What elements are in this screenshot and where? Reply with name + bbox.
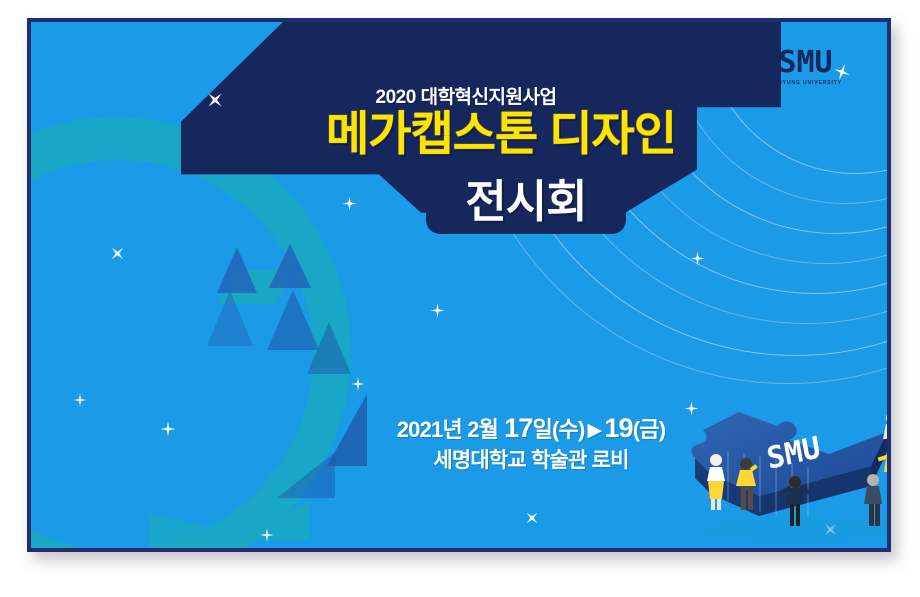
person-figure <box>877 438 887 500</box>
page-backdrop: SMU SEMYUNG UNIVERSITY 2020 대학혁신지원사업 메가캡… <box>0 0 920 597</box>
poster-title-line2: 전시회 <box>426 174 626 230</box>
date-day-end: 19 <box>604 413 632 443</box>
poster-title-line1: 메가캡스톤 디자인 <box>281 110 721 157</box>
smu-logo-subtitle: SEMYUNG UNIVERSITY <box>758 81 853 86</box>
person-figure <box>703 452 729 512</box>
date-range-arrow-icon: ▶ <box>588 420 602 441</box>
date-day-start: 17 <box>504 413 532 443</box>
sparkle-icon <box>689 250 706 267</box>
poster-frame: SMU SEMYUNG UNIVERSITY 2020 대학혁신지원사업 메가캡… <box>27 18 891 552</box>
date-day-start-suffix: 일(수) <box>533 417 585 442</box>
person-figure <box>733 456 761 514</box>
sparkle-icon <box>523 509 541 527</box>
date-year-month: 2021년 2월 <box>397 417 498 442</box>
poster-kicker: 2020 대학혁신지원사업 <box>321 82 611 109</box>
sparkle-icon <box>341 195 358 212</box>
date-day-end-suffix: (금) <box>633 417 666 442</box>
smu-logo-wordmark: SMU <box>758 48 853 78</box>
poster-venue: 세명대학교 학술관 로비 <box>371 444 691 474</box>
sparkle-icon <box>429 302 446 319</box>
poster-canvas: SMU SEMYUNG UNIVERSITY 2020 대학혁신지원사업 메가캡… <box>31 22 887 548</box>
sparkle-icon <box>350 376 366 392</box>
puzzle-illustration: SMU <box>681 390 887 548</box>
poster-date: 2021년 2월17일(수)▶19(금) <box>371 412 691 444</box>
person-figure <box>779 474 811 528</box>
smu-logo: SMU SEMYUNG UNIVERSITY <box>758 48 853 86</box>
